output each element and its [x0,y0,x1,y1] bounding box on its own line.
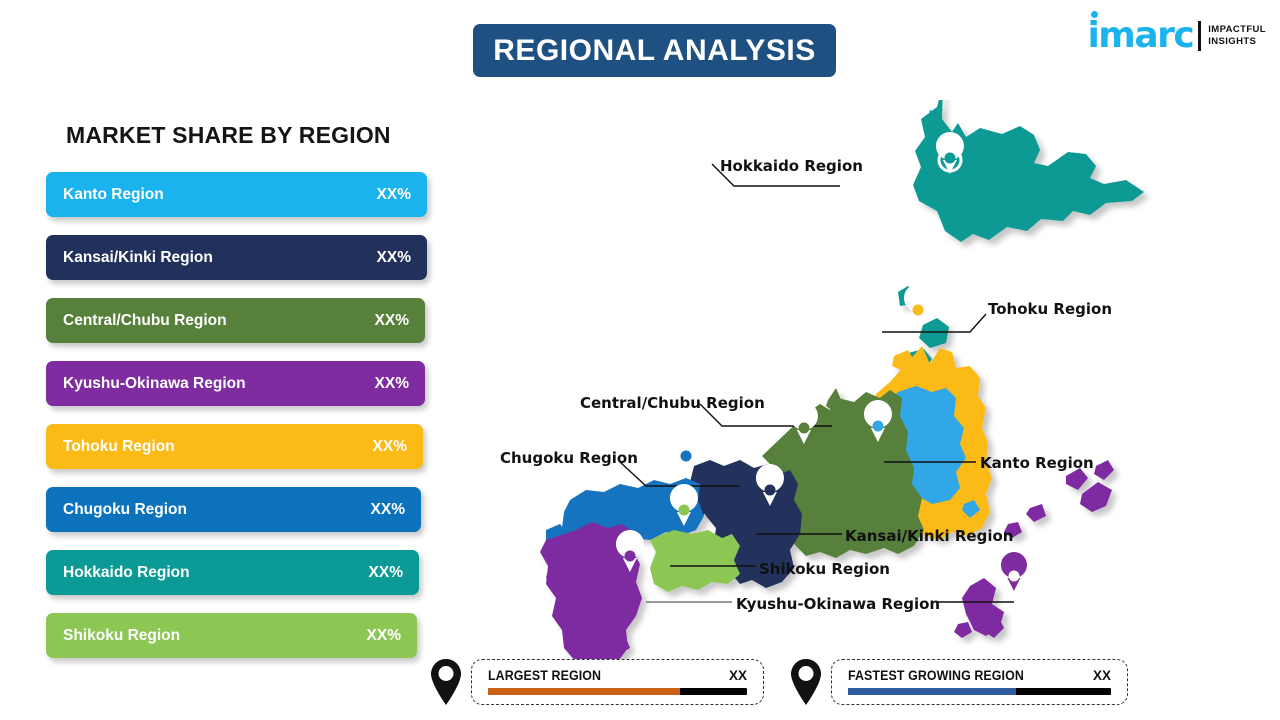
fastest-region-bar-fill [848,688,1016,695]
fastest-region-bar [848,688,1111,695]
legend-row[interactable]: Kanto RegionXX% [46,172,427,217]
map-label: Tohoku Region [988,300,1112,318]
legend-row-label: Kansai/Kinki Region [63,249,377,267]
legend-row[interactable]: Central/Chubu RegionXX% [46,298,425,343]
location-pin-icon [790,658,822,706]
fastest-region-label: FASTEST GROWING REGION [848,668,1024,683]
legend-row[interactable]: Tohoku RegionXX% [46,424,423,469]
page-title: REGIONAL ANALYSIS [493,34,815,68]
legend-row-value: XX% [373,438,407,456]
legend-row-label: Chugoku Region [63,501,371,519]
largest-region-value: XX [729,668,747,683]
largest-region-bar-fill [488,688,680,695]
logo-tagline-line2: INSIGHTS [1208,36,1266,48]
largest-region-card: LARGEST REGION XX [471,659,764,705]
market-share-heading: MARKET SHARE BY REGION [66,122,391,149]
fastest-region-box[interactable]: FASTEST GROWING REGION XX [790,658,1128,706]
legend-row-label: Hokkaido Region [63,564,369,582]
map-region-shikoku[interactable] [650,530,740,592]
largest-region-box[interactable]: LARGEST REGION XX [430,658,764,706]
legend-row-label: Tohoku Region [63,438,373,456]
map-label: Hokkaido Region [720,157,863,175]
legend-row-value: XX% [375,312,409,330]
legend-row[interactable]: Kansai/Kinki RegionXX% [46,235,427,280]
location-pin-icon [430,658,462,706]
imarc-logo: imarc IMPACTFUL INSIGHTS [1087,16,1266,56]
legend-row-value: XX% [371,501,405,519]
map-label: Shikoku Region [759,560,890,578]
footer-highlights: LARGEST REGION XX FASTEST GROWING REGION… [430,658,1150,714]
legend-row[interactable]: Hokkaido RegionXX% [46,550,419,595]
logo-wordmark: imarc [1087,18,1193,54]
slide-canvas: REGIONAL ANALYSIS imarc IMPACTFUL INSIGH… [0,0,1280,720]
largest-region-label: LARGEST REGION [488,668,601,683]
legend-row-label: Central/Chubu Region [63,312,375,330]
legend-row-label: Kanto Region [63,186,377,204]
legend-row-value: XX% [377,249,411,267]
region-share-legend: Kanto RegionXX%Kansai/Kinki RegionXX%Cen… [46,172,446,676]
map-label: Kanto Region [980,454,1094,472]
map-label: Kansai/Kinki Region [845,527,1013,545]
legend-row-value: XX% [367,627,401,645]
legend-row-value: XX% [369,564,403,582]
logo-word-text: imarc [1087,15,1193,56]
pin-okinawa [1001,552,1027,591]
logo-divider [1198,21,1201,51]
legend-row-label: Kyushu-Okinawa Region [63,375,375,393]
fastest-region-value: XX [1093,668,1111,683]
legend-row[interactable]: Chugoku RegionXX% [46,487,421,532]
legend-row[interactable]: Shikoku RegionXX% [46,613,417,658]
logo-tagline: IMPACTFUL INSIGHTS [1208,24,1266,48]
map-label: Central/Chubu Region [580,394,765,412]
fastest-region-card: FASTEST GROWING REGION XX [831,659,1128,705]
legend-row-value: XX% [377,186,411,204]
legend-row-label: Shikoku Region [63,627,367,645]
logo-tagline-line1: IMPACTFUL [1208,24,1266,36]
header-banner: REGIONAL ANALYSIS [473,24,836,77]
largest-region-bar [488,688,747,695]
legend-row[interactable]: Kyushu-Okinawa RegionXX% [46,361,425,406]
map-label: Kyushu-Okinawa Region [736,595,940,613]
japan-map: Hokkaido RegionTohoku RegionCentral/Chub… [430,100,1170,660]
map-label: Chugoku Region [500,449,638,467]
legend-row-value: XX% [375,375,409,393]
